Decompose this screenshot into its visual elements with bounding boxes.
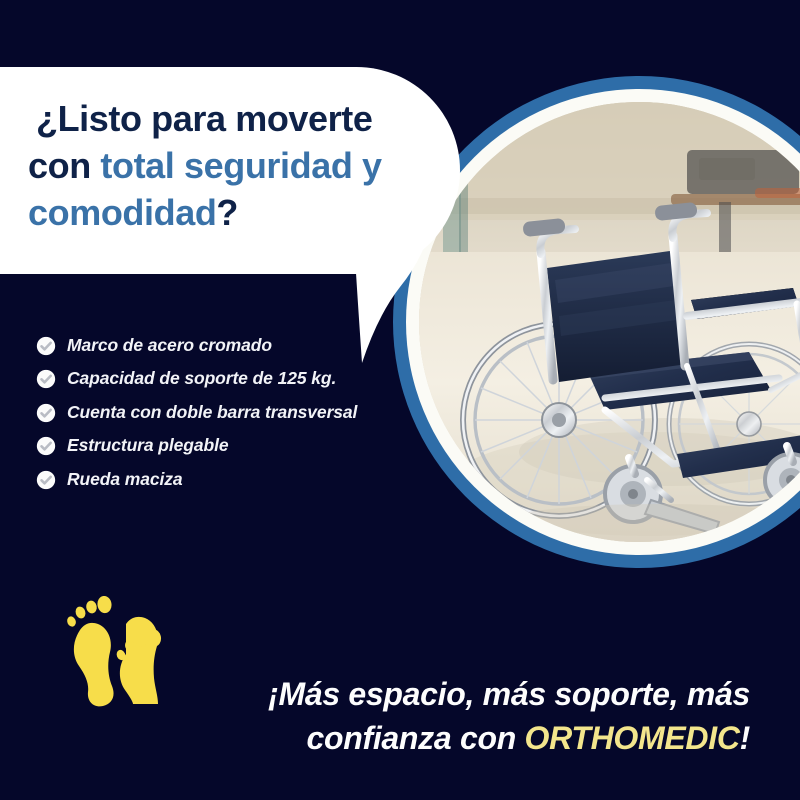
feature-list: Marco de acero cromado Capacidad de sopo… — [36, 334, 366, 501]
list-item-label: Capacidad de soporte de 125 kg. — [67, 367, 336, 389]
list-item-label: Marco de acero cromado — [67, 334, 272, 356]
page-title: ¿Listo para moverte con total seguridad … — [28, 96, 458, 236]
headline-line-3: comodidad? — [28, 190, 458, 237]
list-item-label: Estructura plegable — [67, 434, 228, 456]
check-circle-icon — [36, 336, 56, 356]
headline-bubble-tail — [356, 215, 476, 365]
headline-line-3-plain: ? — [216, 192, 238, 233]
tagline: ¡Más espacio, más soporte, más confianza… — [150, 672, 750, 760]
list-item: Cuenta con doble barra transversal — [36, 401, 366, 423]
brand-name: ORTHOMEDIC — [525, 720, 740, 756]
tagline-line-2: confianza con ORTHOMEDIC! — [150, 716, 750, 760]
headline-line-2-accent: total seguridad y — [100, 145, 381, 186]
headline-line-1: ¿Listo para moverte — [28, 96, 458, 143]
check-circle-icon — [36, 403, 56, 423]
list-item: Estructura plegable — [36, 434, 366, 456]
headline-line-2-plain: con — [28, 145, 100, 186]
headline-line-3-accent: comodidad — [28, 192, 216, 233]
tagline-line-2-plain: confianza con — [306, 720, 524, 756]
check-circle-icon — [36, 470, 56, 490]
list-item: Marco de acero cromado — [36, 334, 366, 356]
list-item: Capacidad de soporte de 125 kg. — [36, 367, 366, 389]
list-item-label: Rueda maciza — [67, 468, 183, 490]
tagline-line-2-end: ! — [740, 720, 750, 756]
tagline-line-1: ¡Más espacio, más soporte, más — [150, 672, 750, 716]
list-item: Rueda maciza — [36, 468, 366, 490]
check-circle-icon — [36, 436, 56, 456]
list-item-label: Cuenta con doble barra transversal — [67, 401, 357, 423]
headline-line-2: con total seguridad y — [28, 143, 458, 190]
check-circle-icon — [36, 369, 56, 389]
promo-poster: ¿Listo para moverte con total seguridad … — [0, 0, 800, 800]
